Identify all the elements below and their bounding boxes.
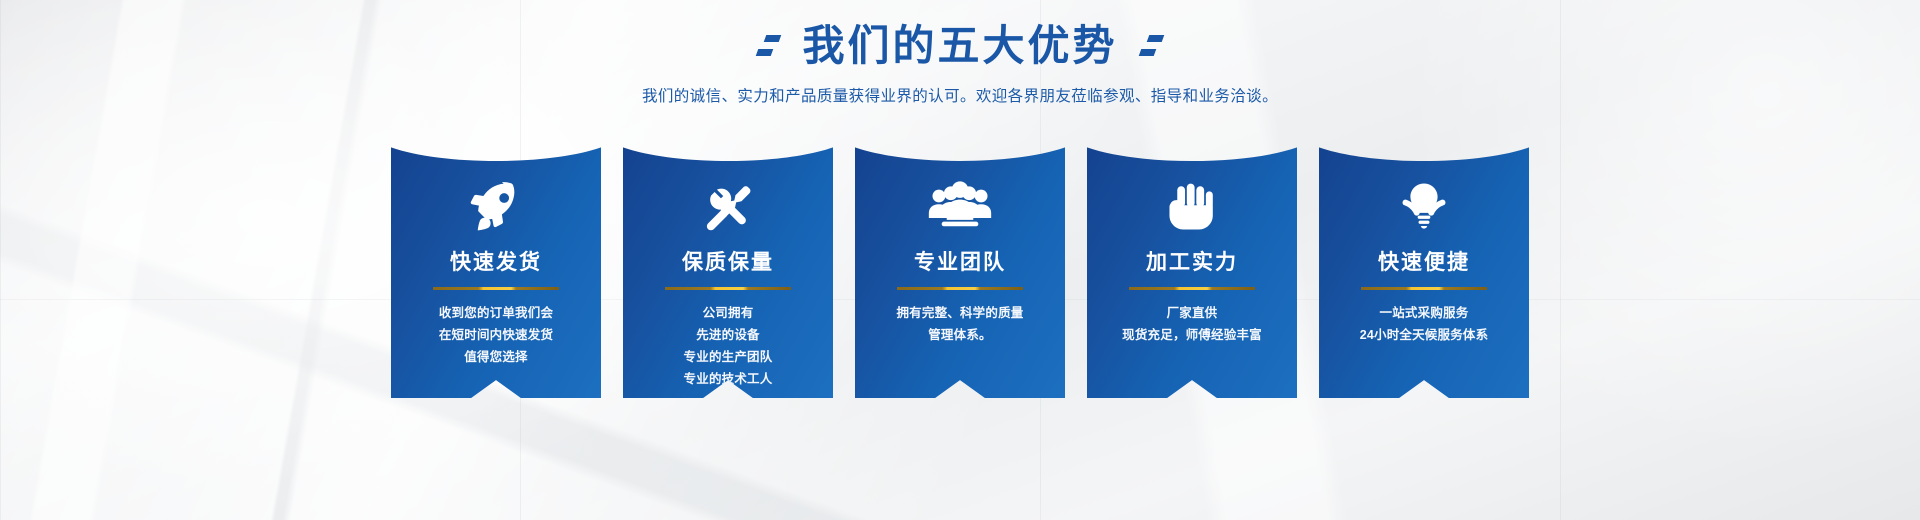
advantage-card-list: 快速发货 收到您的订单我们会 在短时间内快速发货 值得您选择 保质保量 公司拥有: [0, 138, 1920, 398]
title-row: 我们的五大优势: [0, 22, 1920, 70]
card-description-line: 收到您的订单我们会: [439, 303, 553, 325]
card-title: 专业团队: [914, 252, 1006, 273]
card-divider: [1361, 287, 1487, 290]
card-description-line: 管理体系。: [896, 325, 1023, 347]
section-header: 我们的五大优势 我们的诚信、实力和产品质量获得业界的认可。欢迎各界朋友莅临参观、…: [0, 0, 1920, 106]
page-subtitle: 我们的诚信、实力和产品质量获得业界的认可。欢迎各界朋友莅临参观、指导和业务洽谈。: [0, 84, 1920, 106]
advantage-card[interactable]: 保质保量 公司拥有 先进的设备 专业的生产团队 专业的技术工人: [623, 138, 833, 398]
card-description-line: 24小时全天候服务体系: [1360, 325, 1489, 347]
card-description: 公司拥有 先进的设备 专业的生产团队 专业的技术工人: [684, 303, 773, 391]
advantage-card[interactable]: 加工实力 厂家直供 现货充足，师傅经验丰富: [1087, 138, 1297, 398]
card-description: 一站式采购服务 24小时全天候服务体系: [1360, 303, 1489, 347]
advantage-card[interactable]: 快速发货 收到您的订单我们会 在短时间内快速发货 值得您选择: [391, 138, 601, 398]
card-divider: [665, 287, 791, 290]
card-description-line: 专业的生产团队: [684, 347, 773, 369]
card-divider: [897, 287, 1023, 290]
hand-lightbulb-icon: [1395, 176, 1453, 238]
card-description-line: 一站式采购服务: [1360, 303, 1489, 325]
card-description-line: 现货充足，师傅经验丰富: [1122, 325, 1262, 347]
card-description-line: 专业的技术工人: [684, 369, 773, 391]
card-title: 保质保量: [682, 252, 774, 273]
diamond-dashes-left-icon: [756, 31, 782, 61]
card-description-line: 拥有完整、科学的质量: [896, 303, 1023, 325]
card-description: 收到您的订单我们会 在短时间内快速发货 值得您选择: [439, 303, 553, 369]
card-divider: [433, 287, 559, 290]
card-description: 厂家直供 现货充足，师傅经验丰富: [1122, 303, 1262, 347]
card-description: 拥有完整、科学的质量 管理体系。: [896, 303, 1023, 347]
advantage-card[interactable]: 专业团队 拥有完整、科学的质量 管理体系。: [855, 138, 1065, 398]
card-description-line: 先进的设备: [684, 325, 773, 347]
wrench-screwdriver-icon: [700, 176, 756, 238]
people-group-icon: [927, 176, 993, 238]
card-description-line: 公司拥有: [684, 303, 773, 325]
page-title: 我们的五大优势: [802, 22, 1117, 70]
card-description-line: 厂家直供: [1122, 303, 1262, 325]
card-description-line: 在短时间内快速发货: [439, 325, 553, 347]
card-divider: [1129, 287, 1255, 290]
card-title: 快速发货: [450, 252, 542, 273]
card-title: 加工实力: [1146, 252, 1238, 273]
advantage-card[interactable]: 快速便捷 一站式采购服务 24小时全天候服务体系: [1319, 138, 1529, 398]
diamond-dashes-right-icon: [1138, 31, 1164, 61]
card-title: 快速便捷: [1378, 252, 1470, 273]
rocket-icon: [467, 176, 525, 238]
card-description-line: 值得您选择: [439, 347, 553, 369]
fist-hand-icon: [1166, 176, 1218, 238]
